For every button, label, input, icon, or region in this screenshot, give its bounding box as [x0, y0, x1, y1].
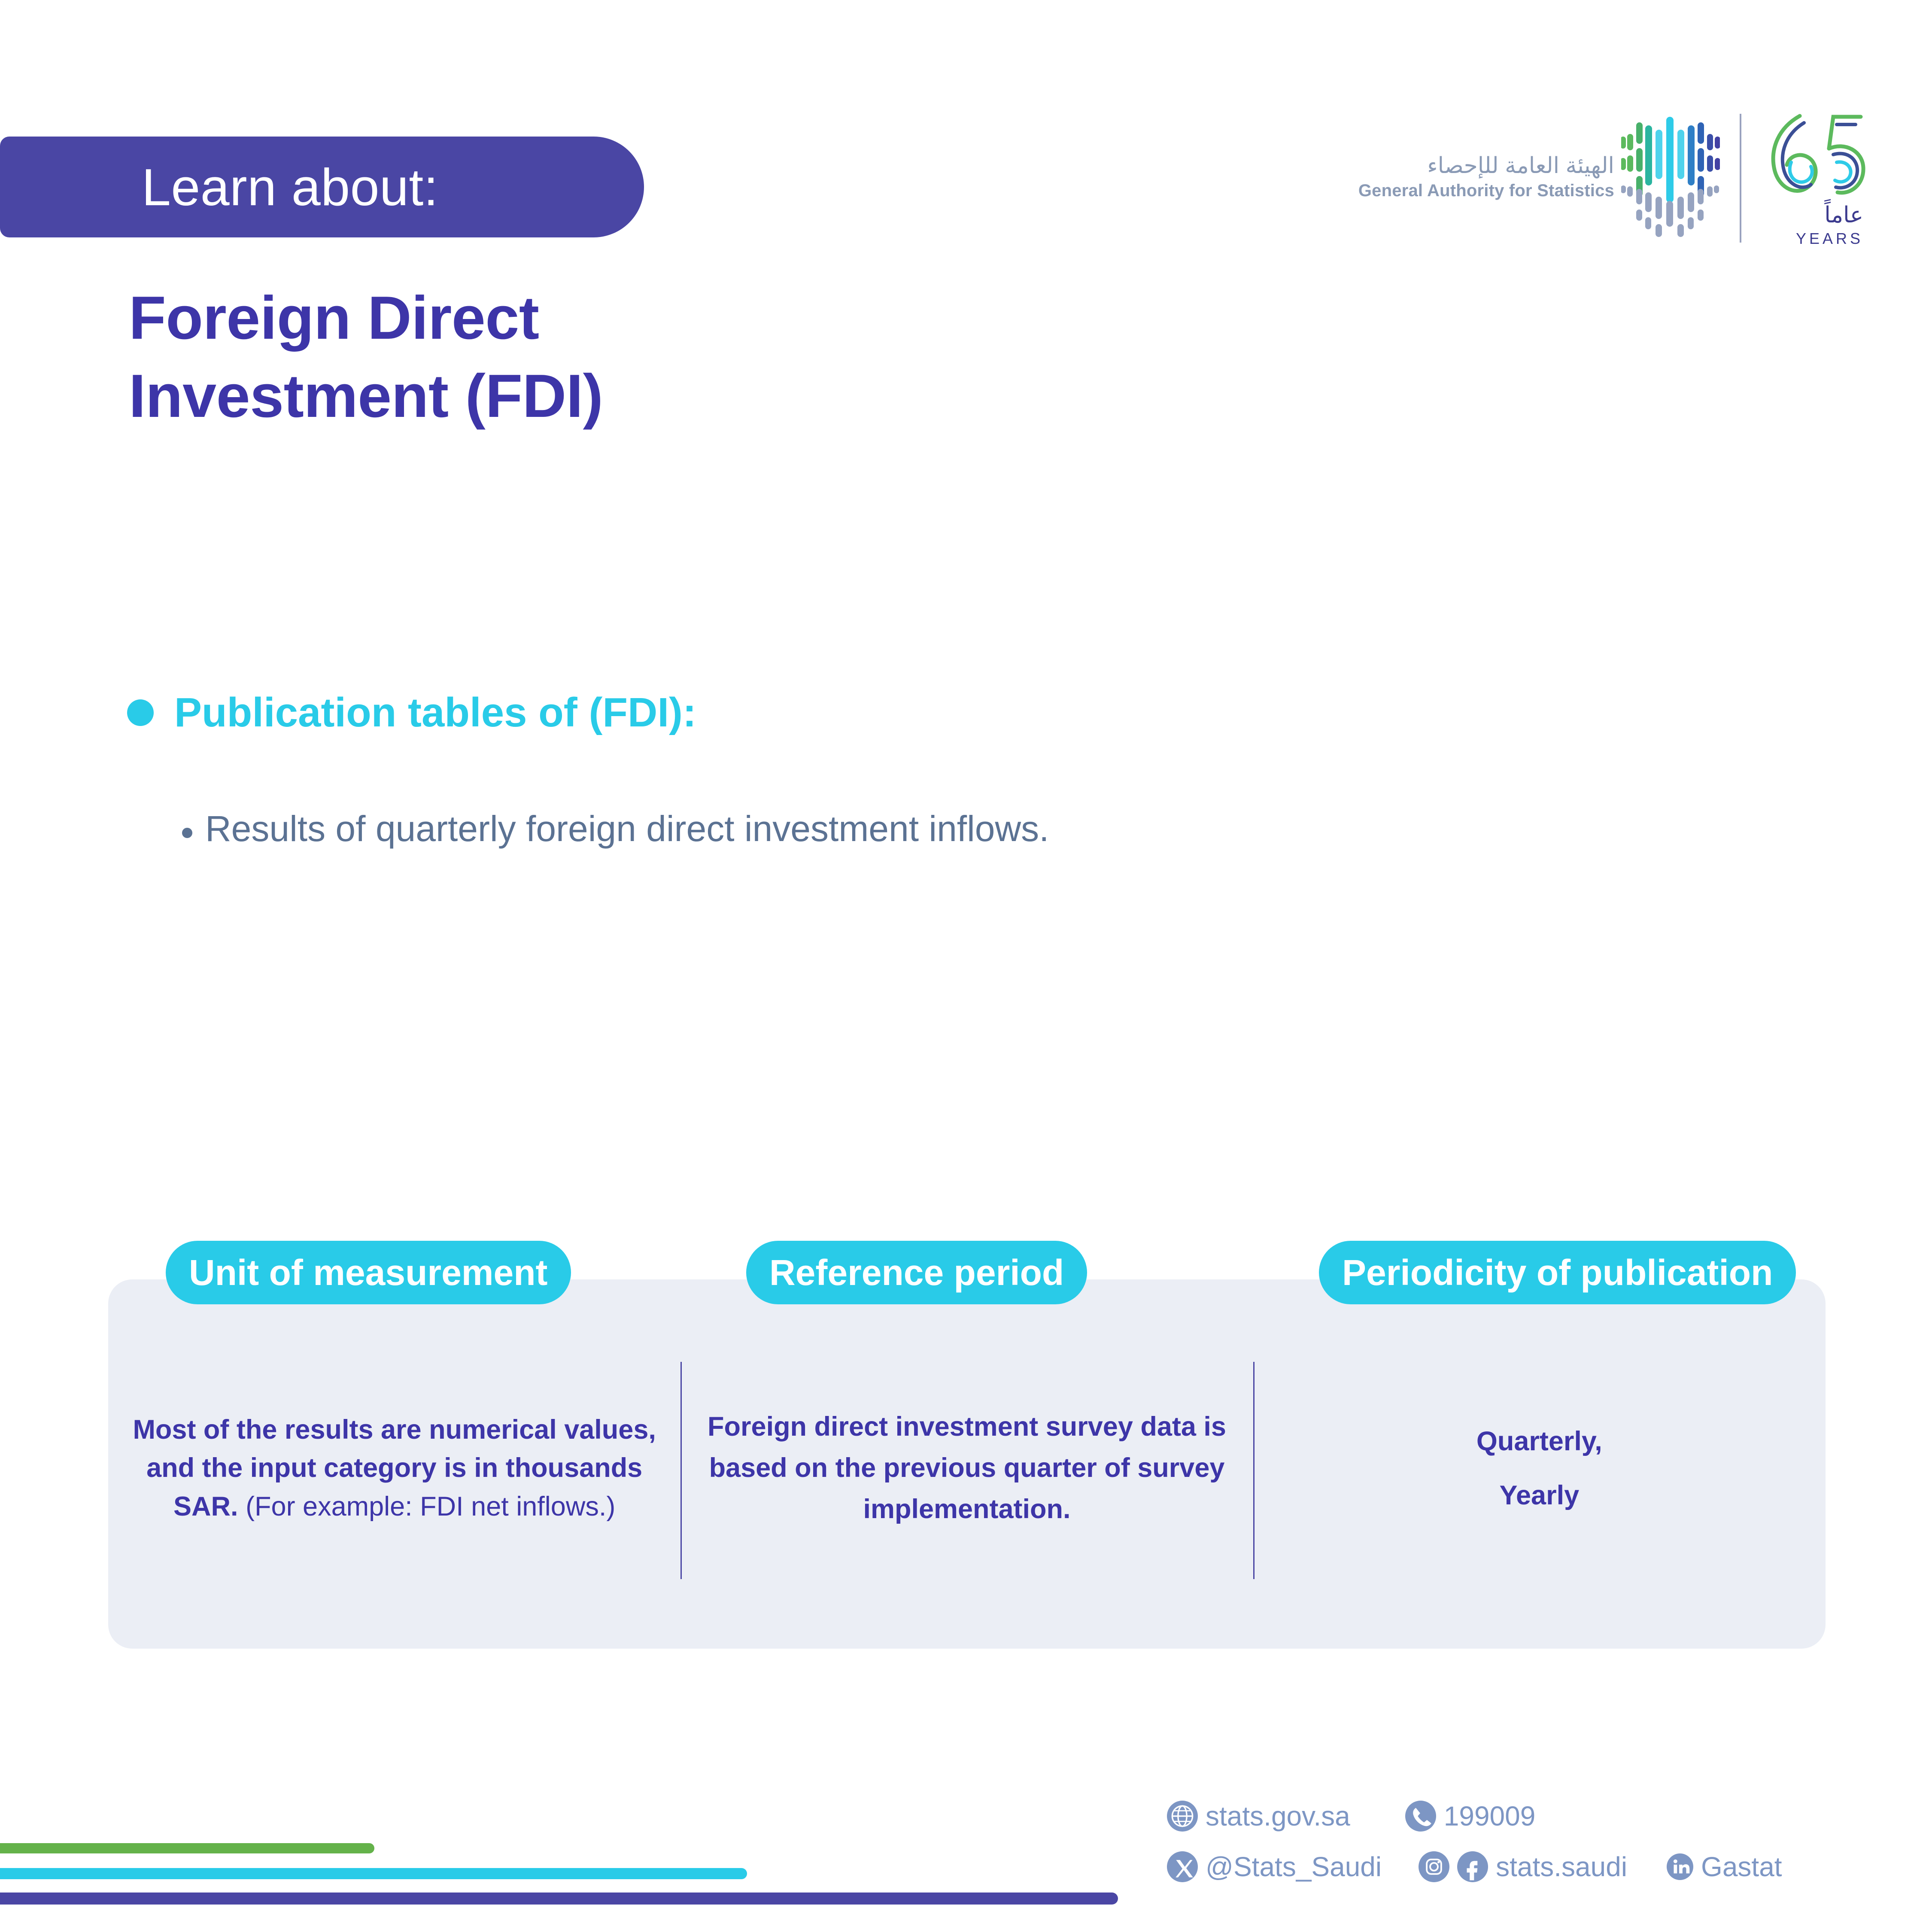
sub-bullet-dot-icon [182, 828, 192, 838]
info-column-unit: Most of the results are numerical values… [108, 1331, 680, 1606]
gastat-bars-icon [1621, 107, 1720, 249]
footer-twitter-label: @Stats_Saudi [1206, 1853, 1382, 1880]
footer-phone[interactable]: 199009 [1405, 1801, 1536, 1832]
tag-label: Unit of measurement [189, 1252, 548, 1294]
anniversary-years-label: YEARS [1796, 230, 1863, 247]
facebook-icon [1457, 1851, 1488, 1882]
footer-website[interactable]: stats.gov.sa [1167, 1801, 1350, 1832]
section-title: Publication tables of (FDI): [174, 692, 696, 733]
footer-social-accounts[interactable]: stats.saudi [1419, 1851, 1627, 1882]
decorative-line-cyan [0, 1868, 747, 1879]
anniversary-arabic-label: عاماً [1824, 199, 1863, 228]
x-twitter-icon [1167, 1851, 1198, 1882]
footer-twitter[interactable]: @Stats_Saudi [1167, 1851, 1382, 1882]
tag-reference-period: Reference period [746, 1241, 1087, 1304]
info-text-regular: (For example: FDI net inflows.) [246, 1492, 615, 1522]
phone-icon [1405, 1801, 1436, 1832]
anniversary-65-icon: عاماً YEARS [1761, 107, 1868, 249]
footer-contact-links: stats.gov.sa 199009 @Stats_Saudi [1167, 1794, 1854, 1889]
tag-label: Reference period [769, 1252, 1064, 1294]
page-title: Foreign Direct Investment (FDI) [129, 279, 1159, 435]
info-column-reference: Foreign direct investment survey data is… [680, 1331, 1253, 1606]
tag-unit-of-measurement: Unit of measurement [166, 1241, 571, 1304]
footer-website-label: stats.gov.sa [1206, 1802, 1350, 1830]
info-card-columns: Most of the results are numerical values… [108, 1331, 1826, 1606]
decorative-line-green [0, 1843, 374, 1853]
list-item: Results of quarterly foreign direct inve… [182, 807, 1049, 851]
info-card-tags: Unit of measurement Reference period Per… [108, 1241, 1827, 1305]
info-column-periodicity: Quarterly, Yearly [1253, 1331, 1826, 1606]
logo-wordmark: الهيئة العامة للإحصاء General Authority … [1358, 152, 1614, 205]
footer-linkedin-label: Gastat [1701, 1853, 1782, 1880]
page-title-line2: Investment (FDI) [129, 357, 1159, 435]
learn-about-banner: Learn about: [0, 137, 644, 237]
gastat-logo: الهيئة العامة للإحصاء General Authority … [1358, 107, 1868, 249]
instagram-icon [1419, 1851, 1449, 1882]
page-title-line1: Foreign Direct [129, 279, 1159, 357]
linkedin-icon [1667, 1853, 1693, 1880]
section-heading: Publication tables of (FDI): [127, 692, 696, 733]
logo-english-name: General Authority for Statistics [1358, 180, 1614, 201]
info-text-line1: Quarterly, [1476, 1414, 1602, 1468]
info-text-line2: Yearly [1476, 1468, 1602, 1522]
globe-icon [1167, 1801, 1198, 1832]
learn-about-label: Learn about: [0, 161, 438, 213]
bullet-dot-icon [127, 699, 154, 726]
info-text-bold: Foreign direct investment survey data is… [708, 1412, 1226, 1524]
decorative-line-purple [0, 1893, 1118, 1905]
footer-phone-label: 199009 [1444, 1802, 1536, 1830]
logo-arabic-name: الهيئة العامة للإحصاء [1427, 152, 1614, 180]
footer-social-label: stats.saudi [1496, 1853, 1627, 1880]
footer-linkedin[interactable]: Gastat [1667, 1853, 1782, 1880]
list-item-label: Results of quarterly foreign direct inve… [205, 807, 1049, 851]
tag-label: Periodicity of publication [1342, 1252, 1773, 1294]
logo-divider [1740, 114, 1741, 243]
tag-periodicity-of-publication: Periodicity of publication [1319, 1241, 1796, 1304]
